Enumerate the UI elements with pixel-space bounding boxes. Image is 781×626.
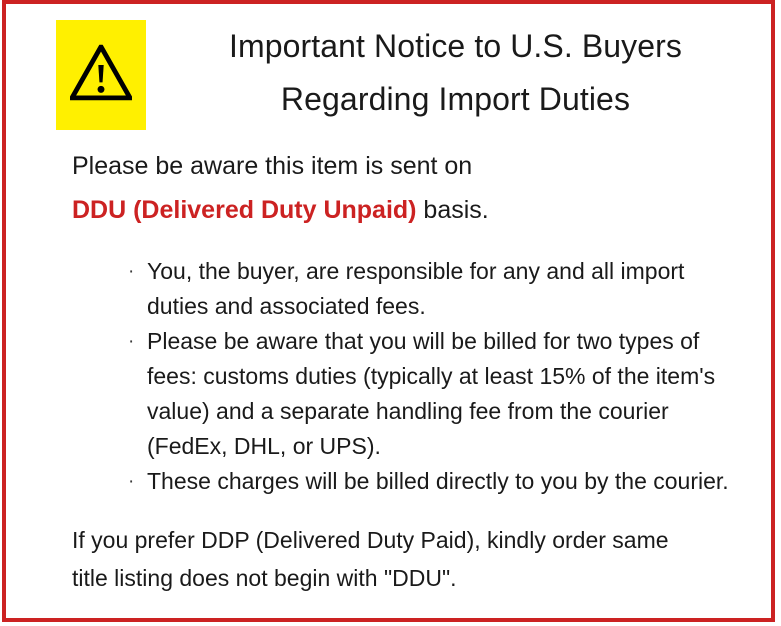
bullet-dot-icon: · — [128, 254, 134, 289]
page-title-line-1: Important Notice to U.S. Buyers — [156, 20, 755, 73]
ddu-emphasis-text: DDU (Delivered Duty Unpaid) — [72, 196, 416, 224]
notice-header: Important Notice to U.S. Buyers Regardin… — [6, 4, 771, 144]
list-item: · You, the buyer, are responsible for an… — [128, 254, 751, 324]
list-item-text: Please be aware that you will be billed … — [147, 324, 751, 464]
list-item-text: These charges will be billed directly to… — [147, 464, 751, 499]
page-title: Important Notice to U.S. Buyers Regardin… — [156, 20, 755, 126]
list-item: · These charges will be billed directly … — [128, 464, 751, 499]
bullet-dot-icon: · — [128, 324, 134, 359]
import-duties-notice-card: Important Notice to U.S. Buyers Regardin… — [2, 0, 775, 622]
duties-bullet-list: · You, the buyer, are responsible for an… — [72, 254, 751, 499]
lead-line-2: DDU (Delivered Duty Unpaid) basis. — [72, 188, 751, 232]
list-item: · Please be aware that you will be bille… — [128, 324, 751, 464]
bullet-dot-icon: · — [128, 464, 134, 499]
closing-paragraph: If you prefer DDP (Delivered Duty Paid),… — [72, 521, 697, 597]
warning-triangle-icon — [70, 45, 132, 101]
warning-badge — [56, 20, 146, 130]
page-title-line-2: Regarding Import Duties — [156, 73, 755, 126]
ddu-emphasis-tail: basis. — [416, 196, 488, 224]
notice-body: Please be aware this item is sent on DDU… — [6, 144, 771, 597]
lead-line-1: Please be aware this item is sent on — [72, 144, 751, 188]
list-item-text: You, the buyer, are responsible for any … — [147, 254, 751, 324]
